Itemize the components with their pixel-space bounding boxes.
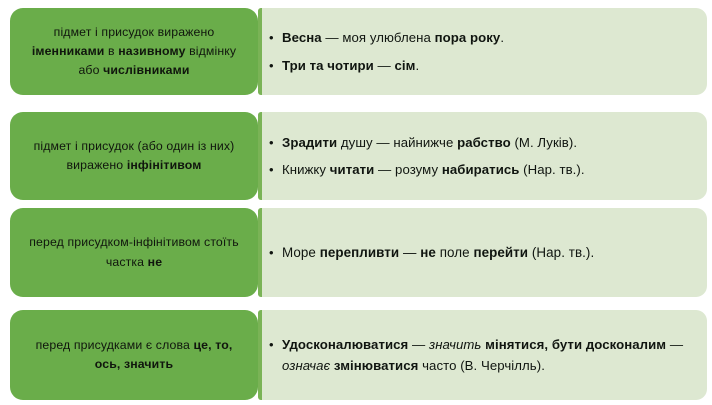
examples-list: • Удосконалюватися — значить мінятися, б… bbox=[268, 334, 693, 377]
list-item: • Книжку читати — розуму набиратись (Нар… bbox=[268, 159, 693, 180]
bullet-icon: • bbox=[269, 55, 274, 76]
list-item: • Зрадити душу — найнижче рабство (М. Лу… bbox=[268, 132, 693, 153]
condition-cell: перед присудками є слова це, то, ось, зн… bbox=[10, 310, 258, 400]
list-item: • Три та чотири — сім. bbox=[268, 55, 693, 76]
example-text: Удосконалюватися — значить мінятися, бут… bbox=[282, 337, 683, 373]
bullet-icon: • bbox=[269, 132, 274, 153]
accent-bar-icon bbox=[258, 8, 262, 95]
list-item: • Море перепливти — не поле перейти (Нар… bbox=[268, 242, 693, 264]
examples-cell: • Зрадити душу — найнижче рабство (М. Лу… bbox=[258, 112, 707, 200]
condition-text: перед присудками є слова це, то, ось, зн… bbox=[24, 336, 244, 374]
table-row: перед присудками є слова це, то, ось, зн… bbox=[0, 310, 712, 400]
table-row: перед присудком-інфінітивом стоїть частк… bbox=[0, 208, 712, 297]
accent-bar-icon bbox=[258, 208, 262, 297]
examples-cell: • Море перепливти — не поле перейти (Нар… bbox=[258, 208, 707, 297]
condition-text: підмет і присудок виражено іменниками в … bbox=[24, 23, 244, 80]
example-text: Книжку читати — розуму набиратись (Нар. … bbox=[282, 162, 585, 177]
bullet-icon: • bbox=[269, 242, 274, 263]
example-text: Зрадити душу — найнижче рабство (М. Лукі… bbox=[282, 135, 577, 150]
example-text: Три та чотири — сім. bbox=[282, 58, 419, 73]
list-item: • Удосконалюватися — значить мінятися, б… bbox=[268, 334, 693, 377]
accent-bar-icon bbox=[258, 310, 262, 400]
table-row: підмет і присудок виражено іменниками в … bbox=[0, 8, 712, 95]
table-row: підмет і присудок (або один із них) вира… bbox=[0, 112, 712, 200]
accent-bar-icon bbox=[258, 112, 262, 200]
condition-cell: підмет і присудок виражено іменниками в … bbox=[10, 8, 258, 95]
examples-list: • Море перепливти — не поле перейти (Нар… bbox=[268, 242, 693, 264]
examples-cell: • Весна — моя улюблена пора року. • Три … bbox=[258, 8, 707, 95]
bullet-icon: • bbox=[269, 159, 274, 180]
example-text: Море перепливти — не поле перейти (Нар. … bbox=[282, 245, 594, 260]
list-item: • Весна — моя улюблена пора року. bbox=[268, 27, 693, 48]
examples-list: • Зрадити душу — найнижче рабство (М. Лу… bbox=[268, 132, 693, 181]
examples-list: • Весна — моя улюблена пора року. • Три … bbox=[268, 27, 693, 76]
example-text: Весна — моя улюблена пора року. bbox=[282, 30, 504, 45]
condition-text: підмет і присудок (або один із них) вира… bbox=[24, 137, 244, 175]
examples-cell: • Удосконалюватися — значить мінятися, б… bbox=[258, 310, 707, 400]
condition-cell: перед присудком-інфінітивом стоїть частк… bbox=[10, 208, 258, 297]
bullet-icon: • bbox=[269, 27, 274, 48]
condition-text: перед присудком-інфінітивом стоїть частк… bbox=[24, 233, 244, 271]
bullet-icon: • bbox=[269, 334, 274, 355]
rules-table: підмет і присудок виражено іменниками в … bbox=[0, 0, 712, 405]
condition-cell: підмет і присудок (або один із них) вира… bbox=[10, 112, 258, 200]
